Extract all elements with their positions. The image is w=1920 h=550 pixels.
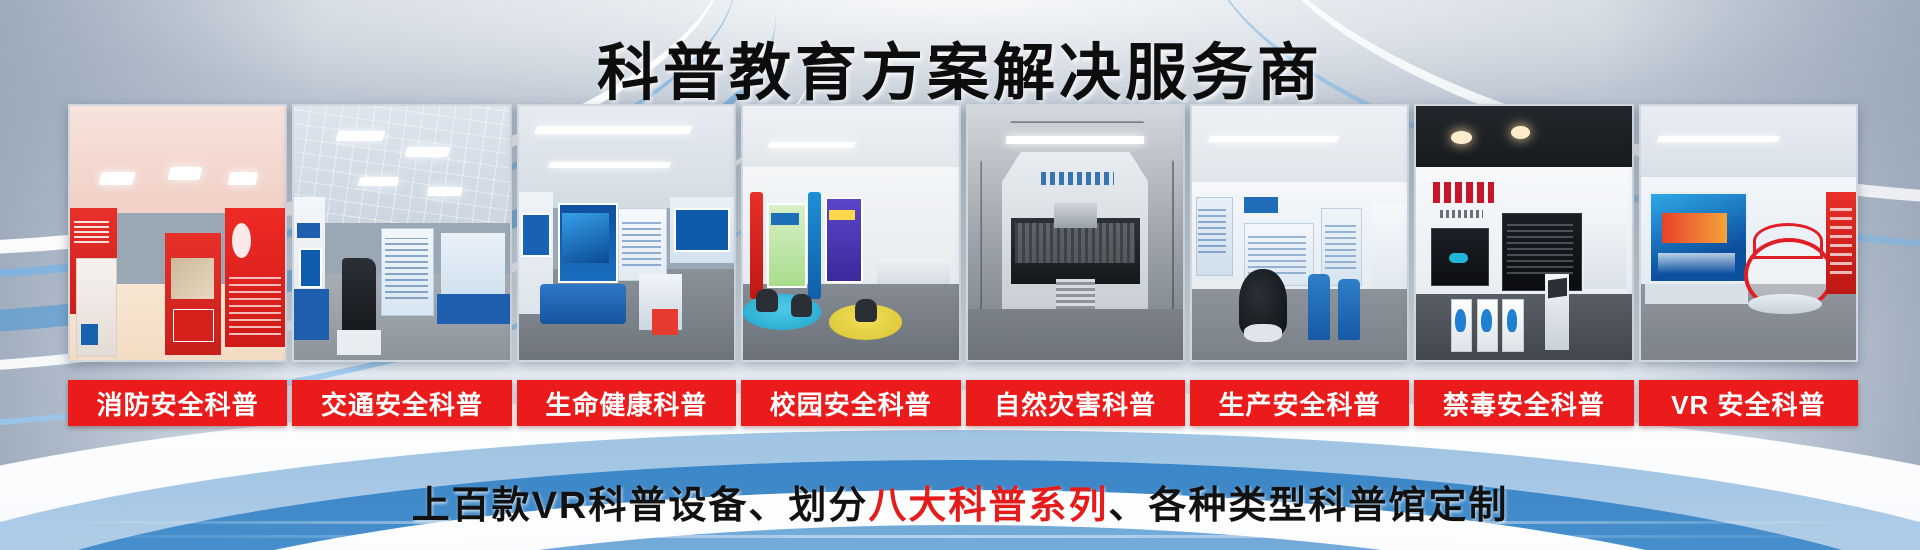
screen-base [1645,284,1748,304]
standing-kiosk [1338,279,1360,340]
cartoon-seat [756,289,778,312]
wall-left-text [74,218,108,243]
poster-title-bar [829,210,855,220]
wall-info-lines [229,274,281,335]
scene-fire-safety [70,106,285,360]
wall-subtitle [1440,210,1483,218]
scene-natural-disaster [968,106,1183,360]
scene-traffic-safety [294,106,509,360]
ceiling-light-strip [1006,136,1145,144]
info-panel-text [1198,208,1226,254]
shaker-equipment [1054,203,1097,228]
kiosk-screen [171,258,214,299]
exhibit-photo-strip [68,104,1858,362]
screen-content [562,213,609,264]
label-production-safety[interactable]: 生产安全科普 [1190,380,1409,426]
chair-base [1244,324,1283,342]
side-exhibit-wall [1584,223,1627,289]
poster-title-bar [771,213,799,226]
scene-vr-safety [1641,106,1856,360]
rear-monitor [674,208,730,253]
label-campus-safety[interactable]: 校园安全科普 [741,380,960,426]
seat-base [337,330,380,355]
label-drug-prevention[interactable]: 禁毒安全科普 [1414,380,1633,426]
board-text [1248,233,1306,274]
panel-drug-prevention[interactable] [1414,104,1633,362]
hall-title-text [1041,172,1114,185]
right-wall-text [1830,208,1852,274]
ceiling-light-strip [1208,136,1340,142]
floor [968,309,1183,360]
panel-production-safety[interactable] [1190,104,1409,362]
kiosk-panel [173,309,214,341]
ceiling [743,106,958,172]
ceiling [1641,106,1856,187]
label-fire-safety[interactable]: 消防安全科普 [68,380,287,426]
blue-counter [540,284,626,325]
car-seat-simulator [342,258,376,334]
cartoon-seat [791,294,813,317]
panel-life-health[interactable] [517,104,736,362]
podium-emblem [1455,309,1466,332]
ceiling-light [427,187,463,196]
ceiling-light-strip [534,126,693,134]
label-vr-safety[interactable]: VR 安全科普 [1639,380,1858,426]
info-board-text [622,220,661,266]
wall-monitor [521,213,551,258]
ceiling-dark [1416,106,1631,172]
rear-counter [437,294,510,324]
ceiling-light [405,147,451,157]
screen-content-banner [1662,213,1727,243]
scene-production-safety [1192,106,1407,360]
lectern-touchscreen [1548,277,1567,297]
tagline-before: 上百款VR科普设备、划分 [412,485,869,527]
scene-life-health [519,106,734,360]
ceiling-light [336,131,387,141]
panel-campus-safety[interactable] [741,104,960,362]
category-label-bar: 消防安全科普 交通安全科普 生命健康科普 校园安全科普 自然灾害科普 生产安全科… [68,380,1858,426]
scene-drug-prevention [1416,106,1631,360]
wall-banner [297,223,321,238]
ceiling-light [98,172,136,185]
info-panel-text [1325,223,1355,269]
vr-platform-base [1748,294,1821,314]
blue-banner-column [808,192,821,299]
vr-rig-arch [1753,223,1824,259]
red-banner-column [750,192,763,299]
label-natural-disaster[interactable]: 自然灾害科普 [966,380,1185,426]
ceiling-grid [294,106,509,223]
podium-emblem [1507,309,1518,332]
info-board-text [385,238,428,299]
podium-emblem [1481,309,1492,332]
side-display [1373,203,1407,289]
floor [1416,294,1631,360]
ceiling-light [167,167,202,180]
panel-natural-disaster[interactable] [966,104,1185,362]
ceiling-light-strip [768,142,857,148]
ceiling-light-strip [1657,136,1780,142]
monitor-button [1449,253,1468,263]
cartoon-seat [855,299,877,322]
standing-kiosk [1308,274,1330,340]
cabinet-screen [81,324,98,344]
rear-display [441,233,506,299]
wall-base-blue [294,289,328,340]
ceiling-light [228,172,259,185]
label-traffic-safety[interactable]: 交通安全科普 [292,380,511,426]
wall-title-banner [1244,197,1278,212]
tagline: 上百款VR科普设备、划分八大科普系列、各种类型科普馆定制 [0,474,1920,529]
board-text [1507,223,1574,274]
ceiling-light [358,177,399,186]
floor-light-streak-2 [0,535,1920,538]
side-counter [877,258,950,283]
wall-monitor [299,248,322,288]
ceiling [70,106,285,213]
screen-glow [1658,253,1736,273]
tagline-highlight: 八大科普系列 [868,485,1108,527]
wall-title-antidrug [1433,182,1493,202]
scene-campus-safety [743,106,958,360]
ceiling [1192,106,1407,192]
wall-graphic [232,223,251,259]
ceiling-light-strip [548,162,671,168]
tagline-after: 、各种类型科普馆定制 [1108,485,1508,527]
panel-fire-safety[interactable] [68,104,287,362]
page-title: 科普教育方案解决服务商 [0,22,1920,112]
promo-banner: 科普教育方案解决服务商 [0,0,1920,550]
panel-vr-safety[interactable] [1639,104,1858,362]
label-life-health[interactable]: 生命健康科普 [517,380,736,426]
red-box-prop [652,309,678,334]
panel-traffic-safety[interactable] [292,104,511,362]
railing-bars [1015,223,1136,264]
floor [1192,289,1407,360]
